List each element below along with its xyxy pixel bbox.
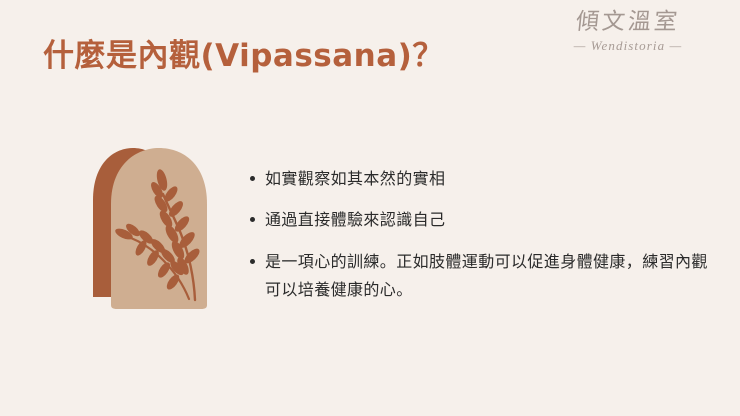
bullet-list: 如實觀察如其本然的實相 通過直接體驗來認識自己 是一項心的訓練。正如肢體運動可以… [250,165,720,305]
list-item: 如實觀察如其本然的實相 [250,165,720,193]
bullet-text: 如實觀察如其本然的實相 [265,165,445,193]
bullet-dot-icon [250,176,255,181]
bullet-dot-icon [250,217,255,222]
bullet-dot-icon [250,259,255,264]
list-item: 是一項心的訓練。正如肢體運動可以促進身體健康，練習內觀可以培養健康的心。 [250,248,720,305]
arch-illustration [85,142,245,317]
bullet-text: 是一項心的訓練。正如肢體運動可以促進身體健康，練習內觀可以培養健康的心。 [265,248,720,305]
list-item: 通過直接體驗來認識自己 [250,206,720,234]
page-title: 什麼是內觀(Vipassana)？ [43,30,444,75]
slide-canvas: 傾文溫室 — Wendistoria — 什麼是內觀(Vipassana)？ [0,0,740,416]
logo-wordmark-cjk: 傾文溫室 [536,8,719,37]
logo-subtitle-latin: — Wendistoria — [538,38,718,54]
bullet-text: 通過直接體驗來認識自己 [265,206,445,234]
brand-logo: 傾文溫室 — Wendistoria — [538,8,718,54]
